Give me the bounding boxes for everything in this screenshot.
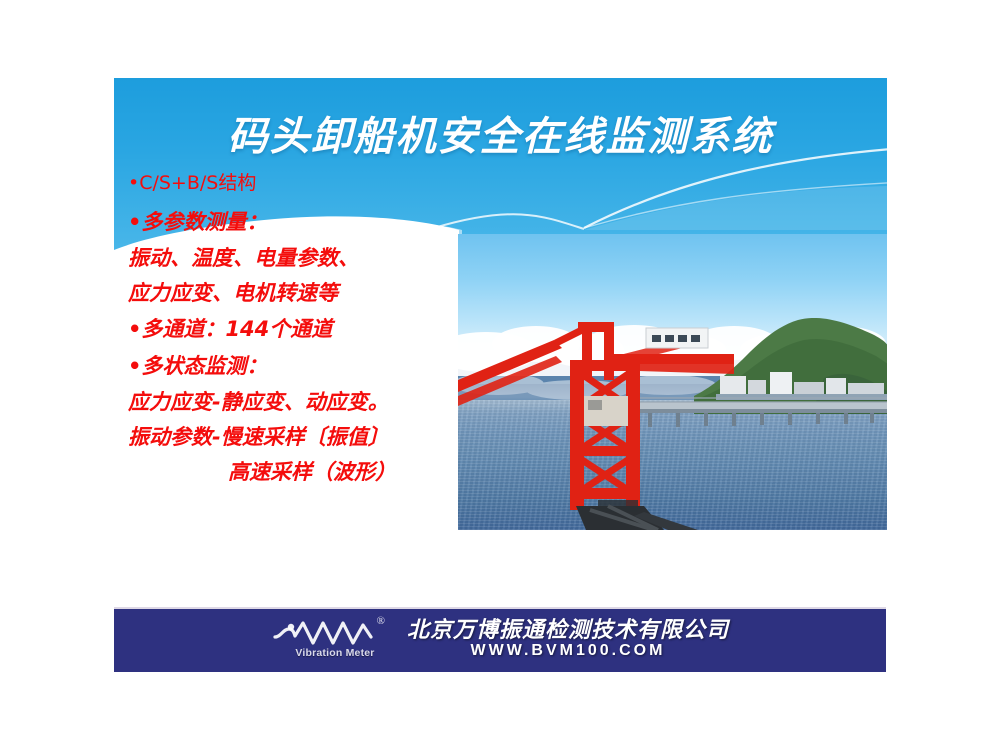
port-ship-unloader-photo	[458, 234, 887, 530]
bullet-line-2: •多参数测量：	[128, 212, 528, 233]
registered-trademark-icon: ®	[377, 615, 385, 627]
vibration-waveform-icon	[271, 617, 391, 649]
logo-wordmark: Vibration Meter	[279, 647, 391, 659]
photo-red-crane	[458, 300, 748, 530]
footer-content: ® Vibration Meter 北京万博振通检测技术有限公司 WWW.BVM…	[114, 609, 886, 670]
company-name: 北京万博振通检测技术有限公司	[407, 619, 729, 642]
bullet-line-1: •C/S+B/S结构	[128, 174, 528, 193]
page-title: 码头卸船机安全在线监测系统	[114, 104, 887, 162]
company-logo: ® Vibration Meter	[271, 616, 391, 664]
slide-canvas: 码头卸船机安全在线监测系统 •C/S+B/S结构 •多参数测量： 振动、温度、电…	[0, 0, 1000, 750]
footer-text-block: 北京万博振通检测技术有限公司 WWW.BVM100.COM	[407, 619, 729, 660]
slide-content-panel: 码头卸船机安全在线监测系统 •C/S+B/S结构 •多参数测量： 振动、温度、电…	[114, 78, 887, 591]
company-url: WWW.BVM100.COM	[407, 642, 729, 660]
footer-bar: ® Vibration Meter 北京万博振通检测技术有限公司 WWW.BVM…	[114, 607, 886, 672]
